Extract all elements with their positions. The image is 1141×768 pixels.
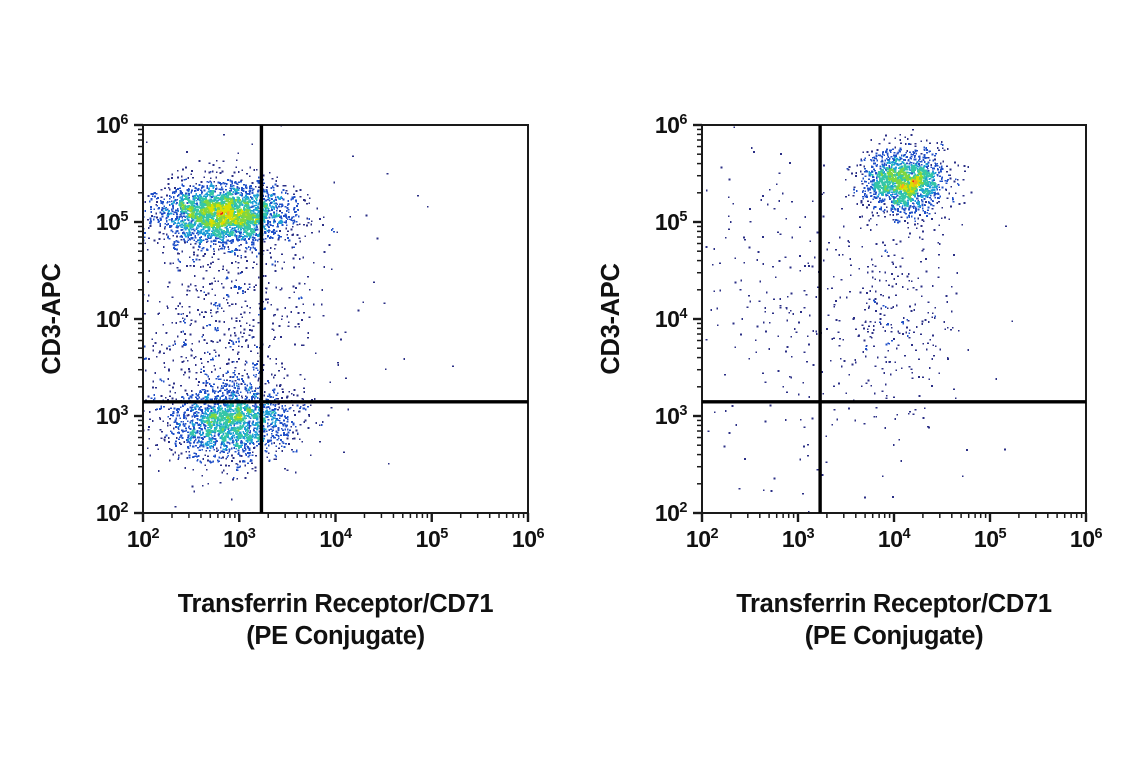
right-axis-labels: 102103104105106102103104105106Transferri…	[597, 112, 1103, 650]
y-tick-label: 105	[655, 209, 688, 235]
panel-right-svg: 102103104105106102103104105106Transferri…	[0, 0, 1141, 768]
x-tick-label: 104	[878, 526, 911, 552]
right-scatter-points	[701, 124, 1013, 515]
y-tick-label: 102	[655, 500, 688, 526]
x-axis-title-line2: (PE Conjugate)	[805, 622, 984, 650]
x-tick-label: 106	[1070, 526, 1103, 552]
y-axis-title: CD3-APC	[597, 263, 625, 374]
x-tick-label: 103	[782, 526, 815, 552]
x-axis-title-line1: Transferrin Receptor/CD71	[736, 590, 1052, 618]
x-tick-label: 102	[686, 526, 719, 552]
y-tick-label: 104	[655, 306, 688, 332]
x-tick-label: 105	[974, 526, 1007, 552]
y-tick-label: 103	[655, 403, 688, 429]
y-tick-label: 106	[655, 112, 688, 138]
flow-cytometry-figure: 102103104105106102103104105106Transferri…	[0, 0, 1141, 768]
panel-right: 102103104105106102103104105106Transferri…	[0, 0, 1141, 768]
